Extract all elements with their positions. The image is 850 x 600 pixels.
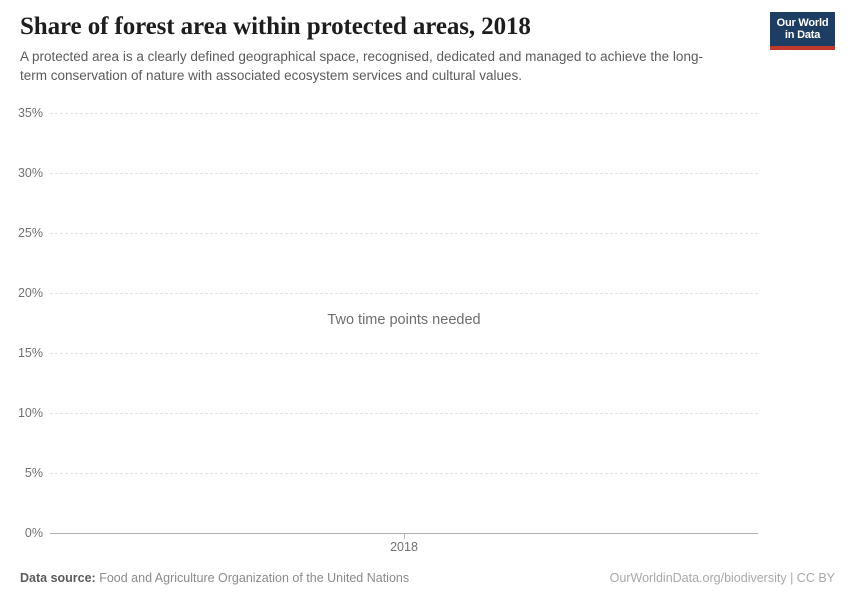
our-world-in-data-logo[interactable]: Our World in Data <box>770 12 835 50</box>
chart-header: Share of forest area within protected ar… <box>20 12 760 85</box>
y-axis-tick-label: 0% <box>0 527 43 539</box>
attribution-link[interactable]: OurWorldinData.org/biodiversity | CC BY <box>610 571 835 585</box>
gridline <box>50 293 758 294</box>
gridline <box>50 173 758 174</box>
x-axis-tick-mark <box>404 534 405 539</box>
x-axis-baseline <box>50 533 758 534</box>
empty-state-message: Two time points needed <box>327 312 480 328</box>
y-axis-tick-label: 5% <box>0 467 43 479</box>
gridline <box>50 233 758 234</box>
logo-line-2: in Data <box>785 29 820 41</box>
chart-subtitle: A protected area is a clearly defined ge… <box>20 48 726 85</box>
y-axis-tick-label: 10% <box>0 407 43 419</box>
y-axis-tick-label: 30% <box>0 167 43 179</box>
gridline <box>50 473 758 474</box>
gridline <box>50 353 758 354</box>
gridline <box>50 113 758 114</box>
y-axis-tick-label: 35% <box>0 107 43 119</box>
y-axis-tick-label: 15% <box>0 347 43 359</box>
y-axis-tick-label: 20% <box>0 287 43 299</box>
data-source-value: Food and Agriculture Organization of the… <box>96 571 409 585</box>
page-title: Share of forest area within protected ar… <box>20 12 760 42</box>
data-source-note: Data source: Food and Agriculture Organi… <box>20 571 409 585</box>
y-axis-tick-label: 25% <box>0 227 43 239</box>
gridline <box>50 413 758 414</box>
chart-plot-area: 0%5%10%15%20%25%30%35% 2018 Two time poi… <box>0 0 850 600</box>
data-source-label: Data source: <box>20 571 96 585</box>
logo-line-1: Our World <box>777 17 829 29</box>
x-axis-tick-label: 2018 <box>390 540 418 554</box>
